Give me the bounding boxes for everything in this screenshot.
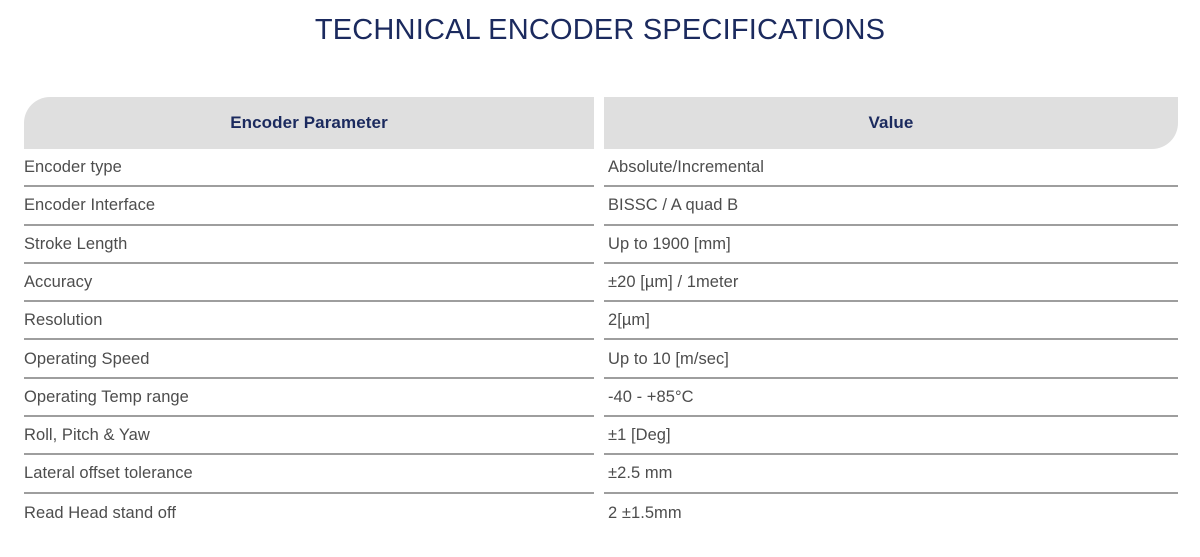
cell-parameter: Operating Speed [24, 340, 594, 378]
table-row: Resolution 2[µm] [24, 302, 1178, 340]
cell-parameter: Stroke Length [24, 226, 594, 264]
cell-value: Absolute/Incremental [604, 149, 1178, 187]
table-header-row: Encoder Parameter Value [24, 97, 1178, 149]
page-title: TECHNICAL ENCODER SPECIFICATIONS [0, 0, 1200, 49]
table-row: Accuracy ±20 [µm] / 1meter [24, 264, 1178, 302]
cell-parameter: Encoder type [24, 149, 594, 187]
column-header-value: Value [604, 97, 1178, 149]
table-row: Operating Speed Up to 10 [m/sec] [24, 340, 1178, 378]
table-row: Roll, Pitch & Yaw ±1 [Deg] [24, 417, 1178, 455]
cell-value: BISSC / A quad B [604, 187, 1178, 225]
cell-value: ±1 [Deg] [604, 417, 1178, 455]
cell-value: -40 - +85°C [604, 379, 1178, 417]
cell-parameter: Lateral offset tolerance [24, 455, 594, 493]
cell-parameter: Encoder Interface [24, 187, 594, 225]
cell-value: ±20 [µm] / 1meter [604, 264, 1178, 302]
table-body: Encoder type Absolute/Incremental Encode… [24, 149, 1178, 532]
table-row: Read Head stand off 2 ±1.5mm [24, 494, 1178, 532]
table-row: Encoder type Absolute/Incremental [24, 149, 1178, 187]
table-row: Lateral offset tolerance ±2.5 mm [24, 455, 1178, 493]
table-row: Operating Temp range -40 - +85°C [24, 379, 1178, 417]
cell-parameter: Read Head stand off [24, 494, 594, 532]
column-header-encoder-parameter: Encoder Parameter [24, 97, 594, 149]
cell-parameter: Accuracy [24, 264, 594, 302]
cell-value: 2[µm] [604, 302, 1178, 340]
table-row: Encoder Interface BISSC / A quad B [24, 187, 1178, 225]
table-row: Stroke Length Up to 1900 [mm] [24, 226, 1178, 264]
cell-value: Up to 1900 [mm] [604, 226, 1178, 264]
specifications-page: TECHNICAL ENCODER SPECIFICATIONS Encoder… [0, 0, 1200, 557]
cell-value: 2 ±1.5mm [604, 494, 1178, 532]
cell-value: Up to 10 [m/sec] [604, 340, 1178, 378]
cell-value: ±2.5 mm [604, 455, 1178, 493]
cell-parameter: Resolution [24, 302, 594, 340]
cell-parameter: Operating Temp range [24, 379, 594, 417]
encoder-specifications-table: Encoder Parameter Value Encoder type Abs… [24, 97, 1178, 532]
cell-parameter: Roll, Pitch & Yaw [24, 417, 594, 455]
